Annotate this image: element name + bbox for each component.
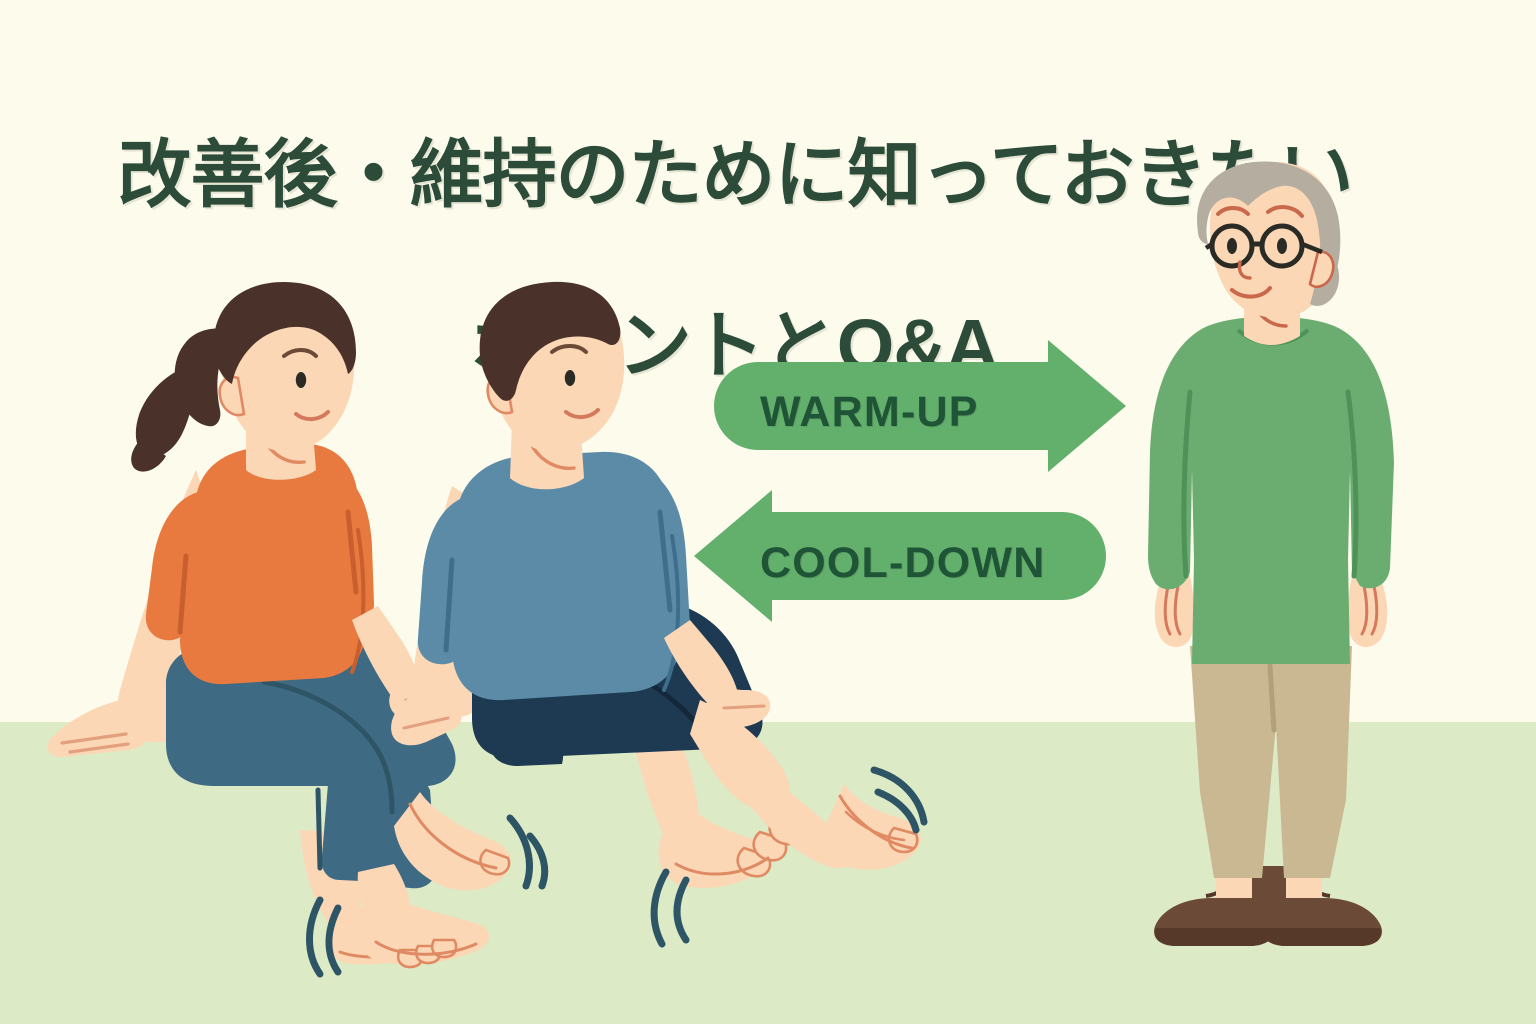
elder-shoes (1154, 866, 1382, 946)
woman-head (131, 282, 356, 472)
man-head (480, 282, 625, 452)
illustration-canvas: 改善後・維持のために知っておきたい ポイントとQ&A (0, 0, 1536, 1024)
elder-trousers (1190, 646, 1352, 878)
figure-standing-elder (1148, 161, 1394, 946)
arrow-cool-down[interactable] (694, 490, 1106, 622)
elder-head (1197, 161, 1340, 317)
man-shirt (418, 452, 770, 728)
arrow-warm-up[interactable] (714, 340, 1126, 472)
scene-illustration (0, 0, 1536, 1024)
